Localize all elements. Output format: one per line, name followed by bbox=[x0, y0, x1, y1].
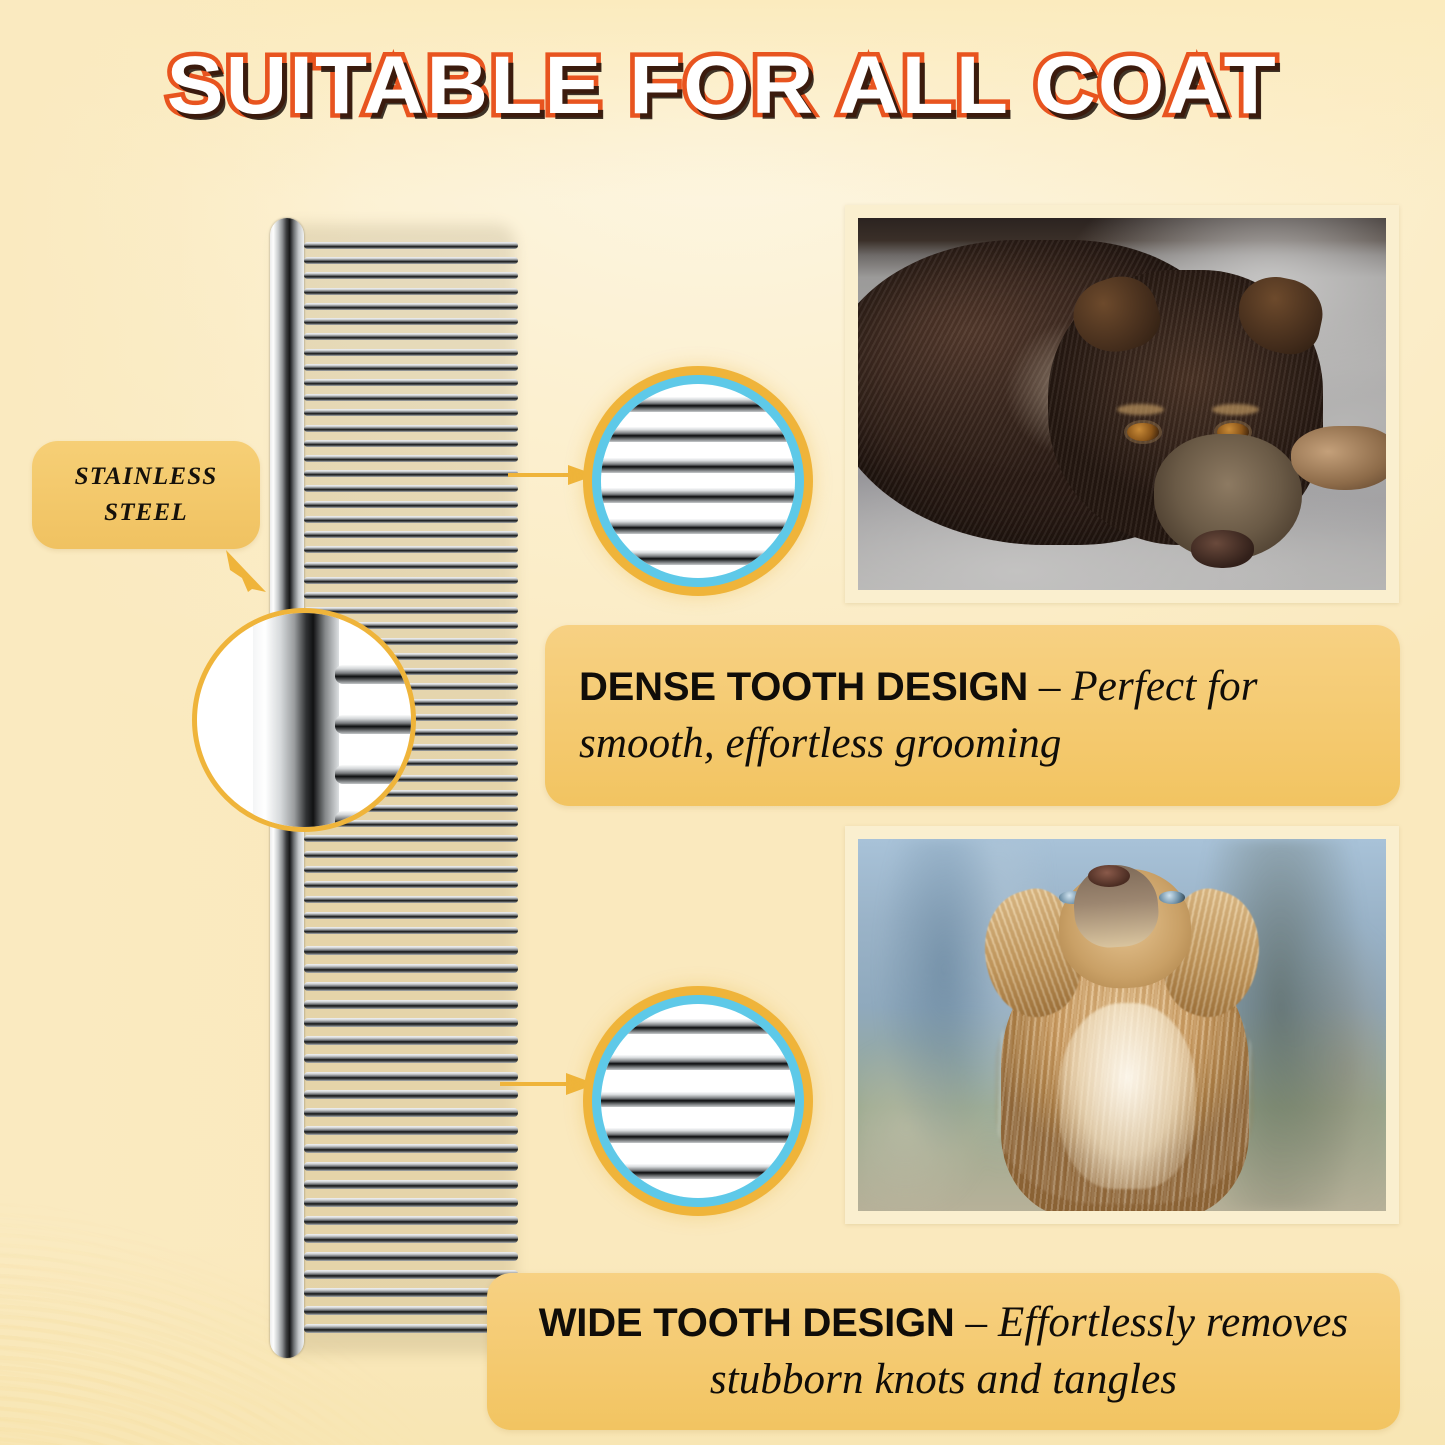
spine-detail-magnifier bbox=[192, 608, 416, 832]
wide-tooth-callout: WIDE TOOTH DESIGN – Effortlessly removes… bbox=[487, 1273, 1400, 1430]
comb-tooth-dense bbox=[304, 501, 518, 508]
comb-tooth-wide bbox=[304, 1306, 518, 1315]
comb-tooth-wide bbox=[304, 1144, 518, 1153]
comb-tooth-dense bbox=[304, 896, 518, 903]
dense-tooth-callout-text: DENSE TOOTH DESIGN – Perfect for smooth,… bbox=[545, 659, 1400, 773]
wide-tooth-callout-lead: WIDE TOOTH DESIGN bbox=[539, 1301, 955, 1345]
comb-tooth-wide bbox=[304, 964, 518, 973]
comb-tooth-dense bbox=[304, 409, 518, 416]
spine-detail-spine bbox=[253, 608, 339, 832]
comb-tooth-wide bbox=[304, 1162, 518, 1171]
comb-tooth-dense bbox=[304, 912, 518, 919]
comb-tooth-dense bbox=[304, 546, 518, 553]
dense-lens-tooth bbox=[601, 488, 795, 503]
header-banner: SUITABLE FOR ALL COAT bbox=[0, 34, 1445, 138]
comb-tooth-dense bbox=[304, 516, 518, 523]
stainless-steel-badge: STAINLESS STEEL bbox=[32, 441, 260, 549]
comb-tooth-wide bbox=[304, 1324, 518, 1333]
comb-tooth-wide bbox=[304, 1270, 518, 1279]
comb-tooth-dense bbox=[304, 257, 518, 264]
spine-detail-tooth bbox=[335, 665, 416, 684]
photo-bottom-dog-eye-right bbox=[1159, 891, 1185, 904]
dog-photo-bottom-image bbox=[858, 839, 1386, 1211]
comb-tooth-dense bbox=[304, 425, 518, 432]
wide-tooth-magnifier-lens bbox=[601, 1004, 795, 1198]
comb-tooth-wide bbox=[304, 1198, 518, 1207]
comb-tooth-dense bbox=[304, 242, 518, 249]
page-title: SUITABLE FOR ALL COAT bbox=[167, 39, 1278, 133]
comb-tooth-dense bbox=[304, 562, 518, 569]
dense-lens-tooth bbox=[601, 397, 795, 412]
comb-tooth-dense bbox=[304, 470, 518, 477]
comb-tooth-dense bbox=[304, 440, 518, 447]
comb-tooth-dense bbox=[304, 577, 518, 584]
wide-lens-tooth bbox=[601, 1128, 795, 1143]
comb-tooth-wide bbox=[304, 1054, 518, 1063]
badge-line-1: STAINLESS bbox=[75, 459, 218, 495]
comb-tooth-wide bbox=[304, 946, 518, 955]
dense-tooth-callout: DENSE TOOTH DESIGN – Perfect for smooth,… bbox=[545, 625, 1400, 806]
comb-tooth-wide bbox=[304, 1234, 518, 1243]
comb-tooth-dense bbox=[304, 318, 518, 325]
comb-tooth-dense bbox=[304, 272, 518, 279]
comb-tooth-dense bbox=[304, 379, 518, 386]
comb-tooth-wide bbox=[304, 1126, 518, 1135]
dense-lens-tooth bbox=[601, 427, 795, 442]
badge-pointer-arrow-icon bbox=[222, 548, 270, 594]
comb-tooth-dense bbox=[304, 531, 518, 538]
photo-top-dog-paw bbox=[1291, 426, 1386, 489]
comb-tooth-wide bbox=[304, 1000, 518, 1009]
badge-line-2: STEEL bbox=[104, 495, 188, 531]
comb-tooth-dense bbox=[304, 394, 518, 401]
comb-tooth-dense bbox=[304, 851, 518, 858]
comb-tooth-dense bbox=[304, 866, 518, 873]
comb-tooth-dense bbox=[304, 349, 518, 356]
comb-tooth-wide bbox=[304, 1072, 518, 1081]
wide-lens-tooth bbox=[601, 1164, 795, 1179]
comb-tooth-wide bbox=[304, 1090, 518, 1099]
photo-top-dog-eye-left bbox=[1127, 423, 1159, 442]
spine-detail-tooth bbox=[335, 765, 416, 784]
photo-top-dog-nose bbox=[1191, 530, 1254, 567]
comb-tooth-dense bbox=[304, 927, 518, 934]
comb-tooth-dense bbox=[304, 485, 518, 492]
wide-lens-tooth bbox=[601, 1019, 795, 1034]
comb-tooth-dense bbox=[304, 835, 518, 842]
photo-bottom-dog-chest bbox=[1059, 1003, 1196, 1189]
comb-tooth-wide bbox=[304, 1216, 518, 1225]
comb-tooth-wide bbox=[304, 1108, 518, 1117]
comb-tooth-wide bbox=[304, 1180, 518, 1189]
comb-tooth-wide bbox=[304, 1036, 518, 1045]
comb-tooth-dense bbox=[304, 364, 518, 371]
spine-detail-tooth bbox=[335, 715, 416, 734]
comb-tooth-dense bbox=[304, 881, 518, 888]
comb-tooth-dense bbox=[304, 303, 518, 310]
dense-tooth-magnifier bbox=[592, 375, 804, 587]
dog-photo-top-image bbox=[858, 218, 1386, 590]
wide-tooth-callout-dash: – bbox=[965, 1299, 987, 1346]
comb-tooth-dense bbox=[304, 333, 518, 340]
comb-tooth-dense bbox=[304, 455, 518, 462]
wide-lens-tooth bbox=[601, 1055, 795, 1070]
dense-lens-tooth bbox=[601, 550, 795, 565]
comb-tooth-dense bbox=[304, 592, 518, 599]
dense-tooth-magnifier-lens bbox=[601, 384, 795, 578]
dense-tooth-callout-lead: DENSE TOOTH DESIGN bbox=[579, 665, 1028, 709]
wide-tooth-callout-text: WIDE TOOTH DESIGN – Effortlessly removes… bbox=[487, 1295, 1400, 1409]
dense-detail-arrow-icon bbox=[508, 455, 598, 495]
dense-tooth-callout-dash: – bbox=[1039, 663, 1061, 710]
comb-tooth-wide bbox=[304, 1288, 518, 1297]
comb-tooth-wide bbox=[304, 1018, 518, 1027]
dense-lens-tooth bbox=[601, 458, 795, 473]
wide-lens-tooth bbox=[601, 1092, 795, 1107]
comb-tooth-wide bbox=[304, 982, 518, 991]
dog-photo-top bbox=[845, 205, 1399, 603]
dense-lens-tooth bbox=[601, 519, 795, 534]
comb-tooth-dense bbox=[304, 288, 518, 295]
wide-detail-arrow-icon bbox=[500, 1062, 598, 1106]
comb-tooth-wide bbox=[304, 1252, 518, 1261]
wide-tooth-magnifier bbox=[592, 995, 804, 1207]
dog-photo-bottom bbox=[845, 826, 1399, 1224]
